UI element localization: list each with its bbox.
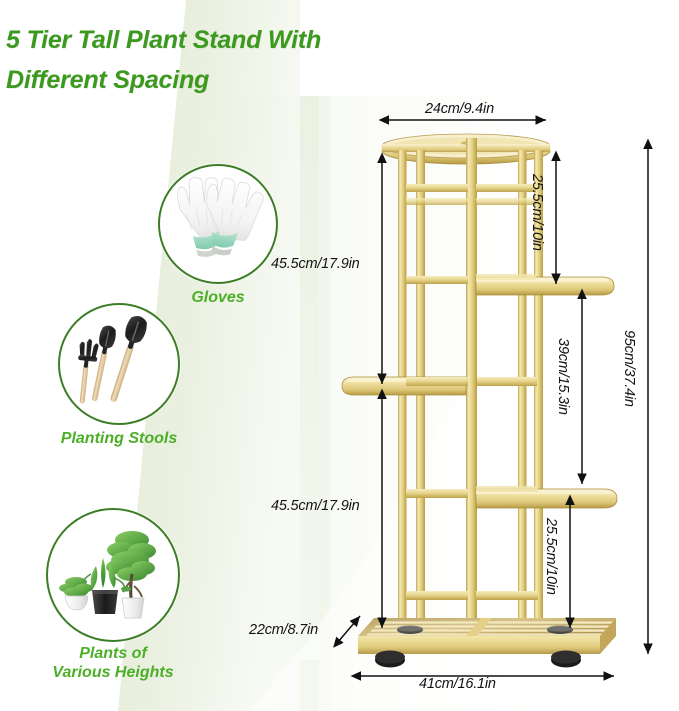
feature-plants[interactable]: Plants of Various Heights (46, 508, 180, 642)
plant-stand-illustration (230, 88, 679, 688)
dim-base-width: 41cm/16.1in (419, 676, 496, 692)
post-center-front (466, 138, 477, 636)
dim-base-depth: 22cm/8.7in (249, 622, 318, 638)
shelf-tier-3 (342, 377, 537, 395)
post-right-rear (518, 150, 527, 636)
dim-top-width: 24cm/9.4in (425, 101, 494, 117)
crossbar-bottom-left (406, 591, 468, 600)
crossbar-mid-left-2 (406, 377, 468, 386)
crossbar-bottom-right (476, 591, 538, 600)
crossbar-mid-right (477, 377, 537, 386)
dim-left-upper: 45.5cm/17.9in (271, 256, 360, 272)
feature-plants-circle (46, 508, 180, 642)
potted-plants-icon (48, 510, 174, 636)
dim-total-height: 95cm/37.4in (621, 330, 637, 407)
crossbar-mid-left (406, 276, 468, 284)
feature-plants-label-2: Various Heights (52, 663, 173, 682)
dim-left-lower: 45.5cm/17.9in (271, 498, 360, 514)
garden-tools-icon (60, 305, 174, 419)
dim-middle-gap: 39cm/15.3in (555, 338, 571, 415)
infographic-canvas: 5 Tier Tall Plant Stand With Different S… (0, 0, 679, 711)
crossbar-upper-right-rear (476, 198, 536, 205)
feature-plants-label-1: Plants of (79, 645, 147, 662)
crossbar-upper-left-rear (406, 198, 468, 205)
base-platform (358, 618, 616, 668)
feature-stools-caption: Planting Stools (61, 429, 177, 448)
dim-lower-gap: 25.5cm/10in (543, 518, 559, 595)
crossbar-low-left (406, 489, 468, 498)
feature-planting-stools[interactable]: Planting Stools (58, 303, 180, 425)
feature-stools-circle (58, 303, 180, 425)
crossbar-upper-left (406, 184, 468, 192)
page-title-line-1: 5 Tier Tall Plant Stand With (6, 26, 321, 54)
feature-plants-caption: Plants of Various Heights (52, 644, 173, 682)
crossbar-upper-right (476, 184, 536, 192)
feature-stools-label: Planting Stools (61, 430, 177, 447)
shelf-tier-2 (406, 274, 614, 295)
dim-upper-gap: 25.5cm/10in (529, 174, 545, 251)
shelf-tier-4 (406, 486, 617, 508)
